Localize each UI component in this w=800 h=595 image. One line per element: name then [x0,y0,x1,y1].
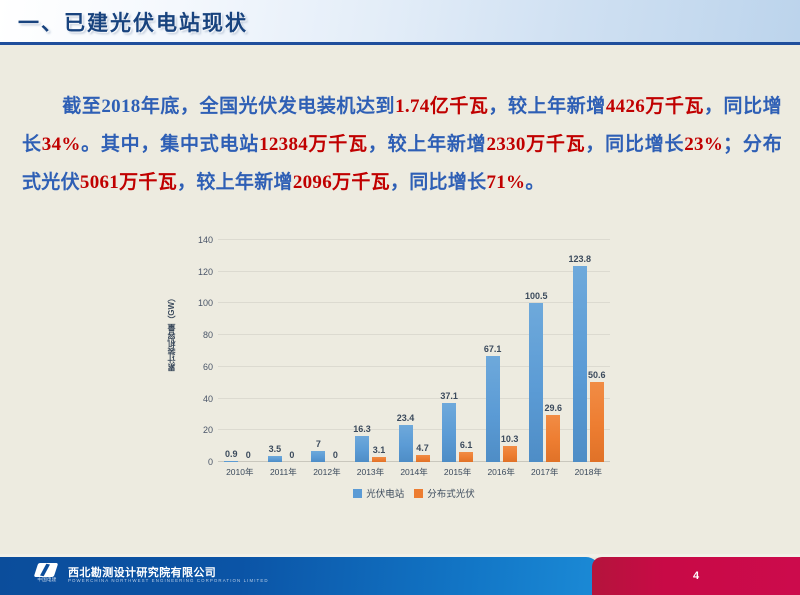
highlight-figure: 5061万千瓦 [80,172,177,193]
chart-x-tick-label: 2011年 [262,462,306,482]
chart-value-label: 3.5 [269,444,282,454]
chart-value-label: 10.3 [501,434,519,444]
paragraph-text: ，较上年新增 [489,96,606,117]
highlight-figure: 2096万千瓦 [293,172,390,193]
legend-swatch-icon [353,489,362,498]
chart-bar[interactable]: 67.1 [486,356,500,462]
cumulative-capacity-bar-chart: 累计装机容量（GW） 020406080100120140 0.903.5070… [168,234,618,510]
chart-value-label: 37.1 [440,391,458,401]
chart-value-label: 16.3 [353,424,371,434]
chart-value-label: 7 [316,439,321,449]
highlight-figure: 4426万千瓦 [606,96,704,117]
company-name-en: POWERCHINA NORTHWEST ENGINEERING CORPORA… [68,578,269,583]
chart-value-label: 67.1 [484,344,502,354]
chart-bar-group: 67.110.3 [479,240,523,462]
footer-brand-panel: 中国电建 西北勘测设计研究院有限公司 POWERCHINA NORTHWEST … [0,557,600,595]
chart-value-label: 4.7 [416,443,429,453]
page-title: 一、已建光伏电站现状 [18,7,248,37]
highlight-figure: 1.74亿千瓦 [395,96,488,117]
chart-legend-label: 分布式光伏 [427,486,475,500]
chart-value-label: 3.1 [373,445,386,455]
highlight-figure: 23% [684,134,723,155]
chart-value-label: 0 [333,450,338,460]
chart-y-tick-label: 40 [203,394,213,404]
chart-legend-item[interactable]: 光伏电站 [353,486,404,500]
chart-bar[interactable]: 37.1 [442,403,456,462]
chart-y-tick-label: 80 [203,330,213,340]
chart-bar[interactable]: 23.4 [399,425,413,462]
chart-y-tick-label: 120 [198,267,213,277]
powerchina-logo-icon: 中国电建 [34,563,60,583]
highlight-figure: 2330万千瓦 [486,134,585,155]
chart-bar[interactable]: 100.5 [529,303,543,462]
chart-value-label: 0.9 [225,449,238,459]
chart-legend-item[interactable]: 分布式光伏 [414,486,475,500]
highlight-figure: 34% [42,134,81,155]
chart-y-tick-label: 100 [198,298,213,308]
chart-bar[interactable]: 29.6 [546,415,560,462]
chart-value-label: 123.8 [569,254,592,264]
chart-x-tick-label: 2016年 [479,462,523,482]
logo-subtitle: 中国电建 [34,577,60,583]
page-number: 4 [592,557,800,595]
chart-bar[interactable]: 10.3 [503,446,517,462]
chart-value-label: 0 [246,450,251,460]
paragraph-text: ，同比增长 [390,172,487,193]
chart-y-tick-label: 140 [198,235,213,245]
chart-y-tick-label: 0 [208,457,213,467]
chart-bar-group: 100.529.6 [523,240,567,462]
chart-bar[interactable]: 6.1 [459,452,473,462]
body-paragraph: 截至2018年底，全国光伏发电装机达到1.74亿千瓦，较上年新增4426万千瓦，… [22,88,782,202]
highlight-figure: 71% [486,172,525,193]
chart-bar[interactable]: 50.6 [590,382,604,462]
chart-plot-area: 020406080100120140 0.903.507016.33.123.4… [218,240,610,462]
chart-bar-group: 23.44.7 [392,240,436,462]
chart-bar[interactable]: 7 [311,451,325,462]
chart-bar[interactable]: 4.7 [416,455,430,462]
chart-bar-group: 123.850.6 [567,240,611,462]
chart-bar-group: 16.33.1 [349,240,393,462]
paragraph-text: 截至2018年底，全国光伏发电装机达到 [62,96,395,117]
chart-value-label: 6.1 [460,440,473,450]
chart-x-tick-label: 2018年 [567,462,611,482]
chart-bar[interactable]: 123.8 [573,266,587,462]
chart-bar-group: 70 [305,240,349,462]
chart-bar-group: 37.16.1 [436,240,480,462]
chart-x-tick-label: 2013年 [349,462,393,482]
chart-x-tick-label: 2012年 [305,462,349,482]
chart-legend: 光伏电站分布式光伏 [218,486,610,500]
paragraph-text: 。 [525,172,544,193]
chart-x-tick-label: 2015年 [436,462,480,482]
chart-x-tick-label: 2010年 [218,462,262,482]
highlight-figure: 12384万千瓦 [259,134,368,155]
chart-value-label: 29.6 [544,403,562,413]
chart-bar-group: 0.90 [218,240,262,462]
chart-value-label: 0 [289,450,294,460]
chart-y-tick-label: 60 [203,362,213,372]
slide: 一、已建光伏电站现状 截至2018年底，全国光伏发电装机达到1.74亿千瓦，较上… [0,0,800,595]
paragraph-text: 。其中，集中式电站 [81,134,259,155]
paragraph-text: ，较上年新增 [177,172,293,193]
chart-value-label: 100.5 [525,291,548,301]
slide-footer: 中国电建 西北勘测设计研究院有限公司 POWERCHINA NORTHWEST … [0,557,800,595]
chart-x-tick-label: 2017年 [523,462,567,482]
slide-header-bar: 一、已建光伏电站现状 [0,0,800,45]
chart-bar-groups: 0.903.507016.33.123.44.737.16.167.110.31… [218,240,610,462]
legend-swatch-icon [414,489,423,498]
chart-y-axis-label: 累计装机容量（GW） [166,294,182,372]
chart-legend-label: 光伏电站 [366,486,404,500]
chart-bar[interactable]: 16.3 [355,436,369,462]
paragraph-text: ，较上年新增 [368,134,487,155]
chart-y-tick-label: 20 [203,425,213,435]
footer-page-panel: 4 [592,557,800,595]
chart-value-label: 50.6 [588,370,606,380]
paragraph-text: ，同比增长 [585,134,684,155]
chart-x-axis-tick-labels: 2010年2011年2012年2013年2014年2015年2016年2017年… [218,462,610,482]
chart-value-label: 23.4 [397,413,415,423]
chart-x-tick-label: 2014年 [392,462,436,482]
chart-bar-group: 3.50 [262,240,306,462]
